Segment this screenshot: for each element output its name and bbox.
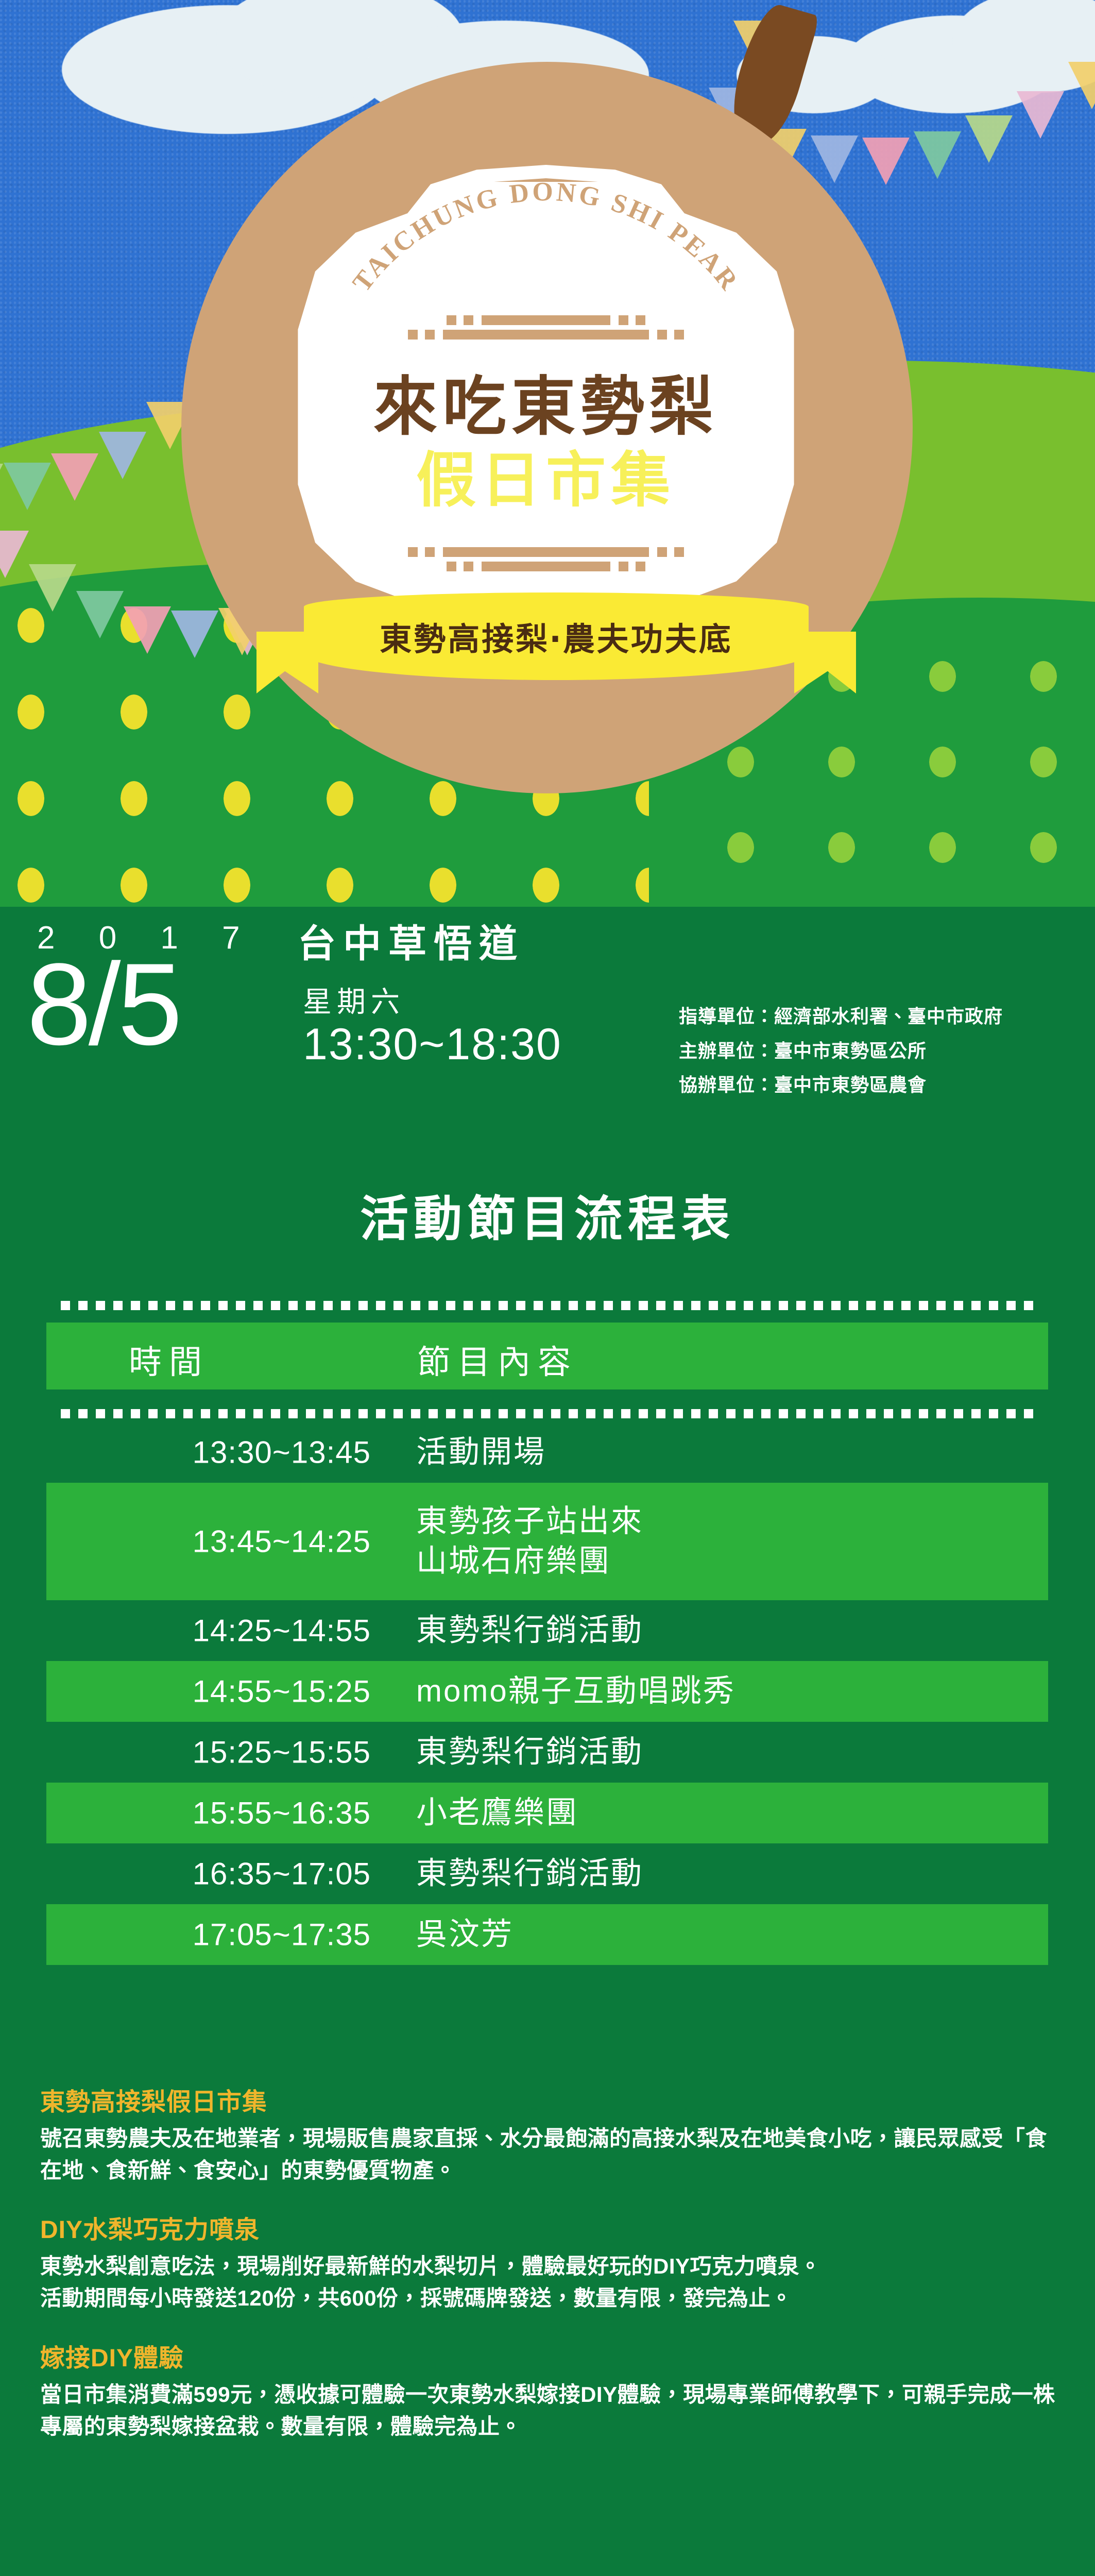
schedule-row: 13:45~14:25東勢孩子站出來山城石府樂團 [46, 1483, 1048, 1600]
event-date: 8/5 [27, 946, 179, 1062]
badge-divider-bottom [258, 547, 834, 557]
notes-section: 東勢高接梨假日市集號召東勢農夫及在地業者，現場販售農家直採、水分最飽滿的高接水梨… [40, 2081, 1057, 2465]
column-header-program: 節目內容 [417, 1336, 578, 1383]
schedule-row-program: 東勢梨行銷活動 [416, 1854, 643, 1894]
schedule-row: 13:30~13:45活動開場 [46, 1422, 1048, 1483]
schedule-row-program: 東勢梨行銷活動 [416, 1611, 643, 1651]
badge-divider-bottom-2 [258, 562, 834, 571]
badge-divider-top [258, 315, 834, 325]
hero-illustration: TAICHUNG DONG SHI PEAR 來吃東勢梨 假日市集 東勢高 [0, 0, 1095, 907]
event-time-range: 13:30~18:30 [303, 1019, 562, 1070]
event-weekday: 星期六 [303, 979, 405, 1021]
ribbon-text: 東勢高接梨‧農夫功夫底 [304, 613, 809, 659]
svg-text:TAICHUNG DONG SHI PEAR: TAICHUNG DONG SHI PEAR [347, 177, 745, 297]
schedule-row-time: 17:05~17:35 [82, 1917, 371, 1953]
schedule-row-program: 東勢孩子站出來山城石府樂團 [416, 1502, 643, 1581]
column-header-time: 時間 [129, 1336, 209, 1383]
note-body: 當日市集消費滿599元，憑收據可體驗一次東勢水梨嫁接DIY體驗，現場專業師傅教學… [40, 2379, 1057, 2443]
schedule-row-time: 14:25~14:55 [82, 1613, 371, 1649]
schedule-divider-top [61, 1301, 1034, 1310]
schedule-row-program: momo親子互動唱跳秀 [416, 1672, 735, 1711]
badge-divider-top-2 [258, 330, 834, 340]
schedule-row: 17:05~17:35吳汶芳 [46, 1904, 1048, 1965]
schedule-row-time: 13:45~14:25 [82, 1524, 371, 1560]
badge-title-line2: 假日市集 [258, 432, 834, 518]
schedule-row: 14:55~15:25momo親子互動唱跳秀 [46, 1661, 1048, 1722]
schedule-table-body: 13:30~13:45活動開場13:45~14:25東勢孩子站出來山城石府樂團1… [46, 1422, 1048, 1965]
schedule-title: 活動節目流程表 [0, 1180, 1095, 1250]
note-body: 號召東勢農夫及在地業者，現場販售農家直採、水分最飽滿的高接水梨及在地美食小吃，讓… [40, 2123, 1057, 2187]
organizer-line: 主辦單位：臺中市東勢區公所 [679, 1034, 1003, 1069]
schedule-row: 14:25~14:55東勢梨行銷活動 [46, 1600, 1048, 1661]
badge-english-arc: TAICHUNG DONG SHI PEAR [258, 218, 834, 319]
schedule-row: 16:35~17:05東勢梨行銷活動 [46, 1843, 1048, 1904]
note-heading: DIY水梨巧克力噴泉 [40, 2209, 1057, 2245]
event-venue: 台中草悟道 [298, 913, 524, 968]
organizer-list: 指導單位：經濟部水利署、臺中市政府主辦單位：臺中市東勢區公所協辦單位：臺中市東勢… [679, 999, 1003, 1103]
organizer-line: 協辦單位：臺中市東勢區農會 [679, 1068, 1003, 1103]
schedule-row-time: 15:25~15:55 [82, 1735, 371, 1770]
schedule-row-program: 東勢梨行銷活動 [416, 1733, 643, 1772]
event-badge: TAICHUNG DONG SHI PEAR 來吃東勢梨 假日市集 [258, 165, 834, 649]
poster-root: TAICHUNG DONG SHI PEAR 來吃東勢梨 假日市集 東勢高 [0, 0, 1095, 2576]
schedule-row-time: 15:55~16:35 [82, 1795, 371, 1831]
schedule-row-time: 14:55~15:25 [82, 1674, 371, 1709]
schedule-row-program: 活動開場 [416, 1433, 546, 1472]
ribbon-band: 東勢高接梨‧農夫功夫底 [304, 592, 809, 680]
schedule-row-time: 16:35~17:05 [82, 1856, 371, 1892]
note-heading: 東勢高接梨假日市集 [40, 2081, 1057, 2117]
organizer-line: 指導單位：經濟部水利署、臺中市政府 [679, 999, 1003, 1034]
schedule-table-header: 時間 節目內容 [46, 1323, 1048, 1389]
tagline-ribbon: 東勢高接梨‧農夫功夫底 [304, 592, 809, 680]
schedule-row: 15:25~15:55東勢梨行銷活動 [46, 1722, 1048, 1783]
schedule-row-program: 吳汶芳 [416, 1915, 514, 1955]
note-body: 東勢水梨創意吃法，現場削好最新鮮的水梨切片，體驗最好玩的DIY巧克力噴泉。活動期… [40, 2250, 1057, 2314]
schedule-row-program: 小老鷹樂團 [416, 1793, 578, 1833]
schedule-divider-bottom [61, 1409, 1034, 1418]
note-heading: 嫁接DIY體驗 [40, 2337, 1057, 2374]
schedule-row: 15:55~16:35小老鷹樂團 [46, 1783, 1048, 1843]
schedule-row-time: 13:30~13:45 [82, 1435, 371, 1470]
event-datebar: 2 0 1 7 8/5 台中草悟道 星期六 13:30~18:30 指導單位：經… [0, 907, 1095, 1149]
